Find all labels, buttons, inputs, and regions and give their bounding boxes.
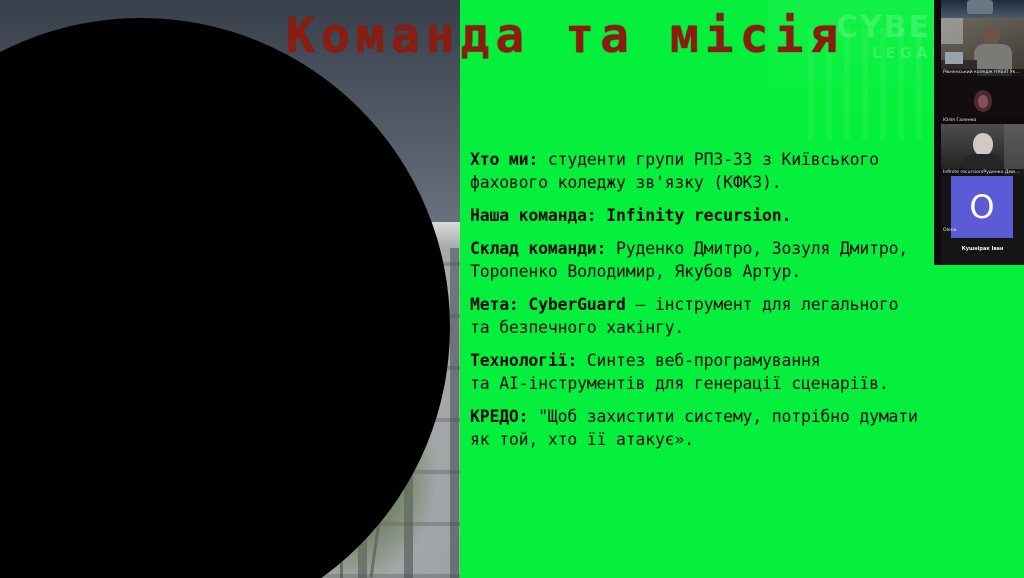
paragraph-lead: Хто ми: — [470, 150, 538, 169]
paragraph-text: Руденко Дмитро, Зозуля Дмитро, — [606, 239, 908, 258]
participant-tile[interactable]: Юлія Галенко — [941, 76, 1024, 124]
paragraph-text: та AI-інструментів для генерації сценарі… — [470, 374, 889, 393]
slide-body: Хто ми: студенти групи РПЗ-33 з Київсько… — [470, 148, 990, 461]
paragraph-lead: Склад команди: — [470, 239, 606, 258]
participant-face — [978, 95, 988, 108]
participant-name: Кушнірак Іван — [941, 246, 1024, 252]
participant-head — [973, 133, 993, 156]
paragraph-goal: Мета: CyberGuard — інструмент для легаль… — [470, 293, 990, 339]
paragraph-lead: Мета: CyberGuard — [470, 295, 626, 314]
participant-name: Юлія Галенко — [941, 117, 1024, 124]
paragraph-text: — інструмент для легального — [626, 295, 899, 314]
paragraph-lead: Технології: — [470, 351, 577, 370]
monitor — [945, 52, 963, 64]
paragraph-text: студенти групи РПЗ-33 з Київського — [538, 150, 879, 169]
paragraph-text: Торопенко Володимир, Якубов Артур. — [470, 262, 801, 281]
paragraph-text: фахового коледжу зв'язку (КФКЗ). — [470, 173, 781, 192]
paragraph-text: як той, хто її атакує». — [470, 430, 694, 449]
paragraph-text: Синтез веб-програмування — [577, 351, 820, 370]
participant-tile[interactable]: O Olena — [941, 176, 1024, 238]
participant-tile[interactable]: Рівненський коледж НУБіП України — [941, 18, 1024, 76]
participant-tile[interactable]: Кушнірак Іван — [941, 238, 1024, 265]
participant-name: Olena — [941, 227, 1024, 234]
video-conference-panel[interactable]: Рівненський коледж НУБіП України Юлія Га… — [941, 0, 1024, 265]
presentation-slide: CYBERG LEGACY P Команда та місія Хто ми:… — [0, 0, 1024, 578]
participant-name: Рівненський коледж НУБіП України — [941, 69, 1024, 76]
paragraph-text: "Щоб захистити систему, потрібно думати — [528, 407, 917, 426]
paragraph-credo: КРЕДО: "Щоб захистити систему, потрібно … — [470, 405, 990, 451]
paragraph-text: Infinity recursion. — [597, 206, 792, 225]
paragraph-text: та безпечного хакінгу. — [470, 318, 684, 337]
participant-head — [983, 26, 1000, 45]
participant-tile[interactable]: Infinite recursion/Руденко Дмитро — [941, 124, 1024, 176]
video-panel-edge — [934, 0, 941, 265]
paragraph-who-we-are: Хто ми: студенти групи РПЗ-33 з Київсько… — [470, 148, 990, 194]
paragraph-lead: Наша команда: — [470, 206, 597, 225]
video-background — [941, 18, 963, 44]
paragraph-lead: КРЕДО: — [470, 407, 528, 426]
participant-name: Infinite recursion/Руденко Дмитро — [941, 169, 1024, 176]
avatar-initial: O — [969, 191, 994, 223]
slide-title: Команда та місія — [286, 8, 844, 64]
participant-tile[interactable] — [941, 0, 1024, 18]
paragraph-team-name: Наша команда: Infinity recursion. — [470, 204, 990, 227]
paragraph-team-members: Склад команди: Руденко Дмитро, Зозуля Дм… — [470, 237, 990, 283]
video-frame — [967, 0, 993, 14]
paragraph-technologies: Технології: Синтез веб-програмування та … — [470, 349, 990, 395]
